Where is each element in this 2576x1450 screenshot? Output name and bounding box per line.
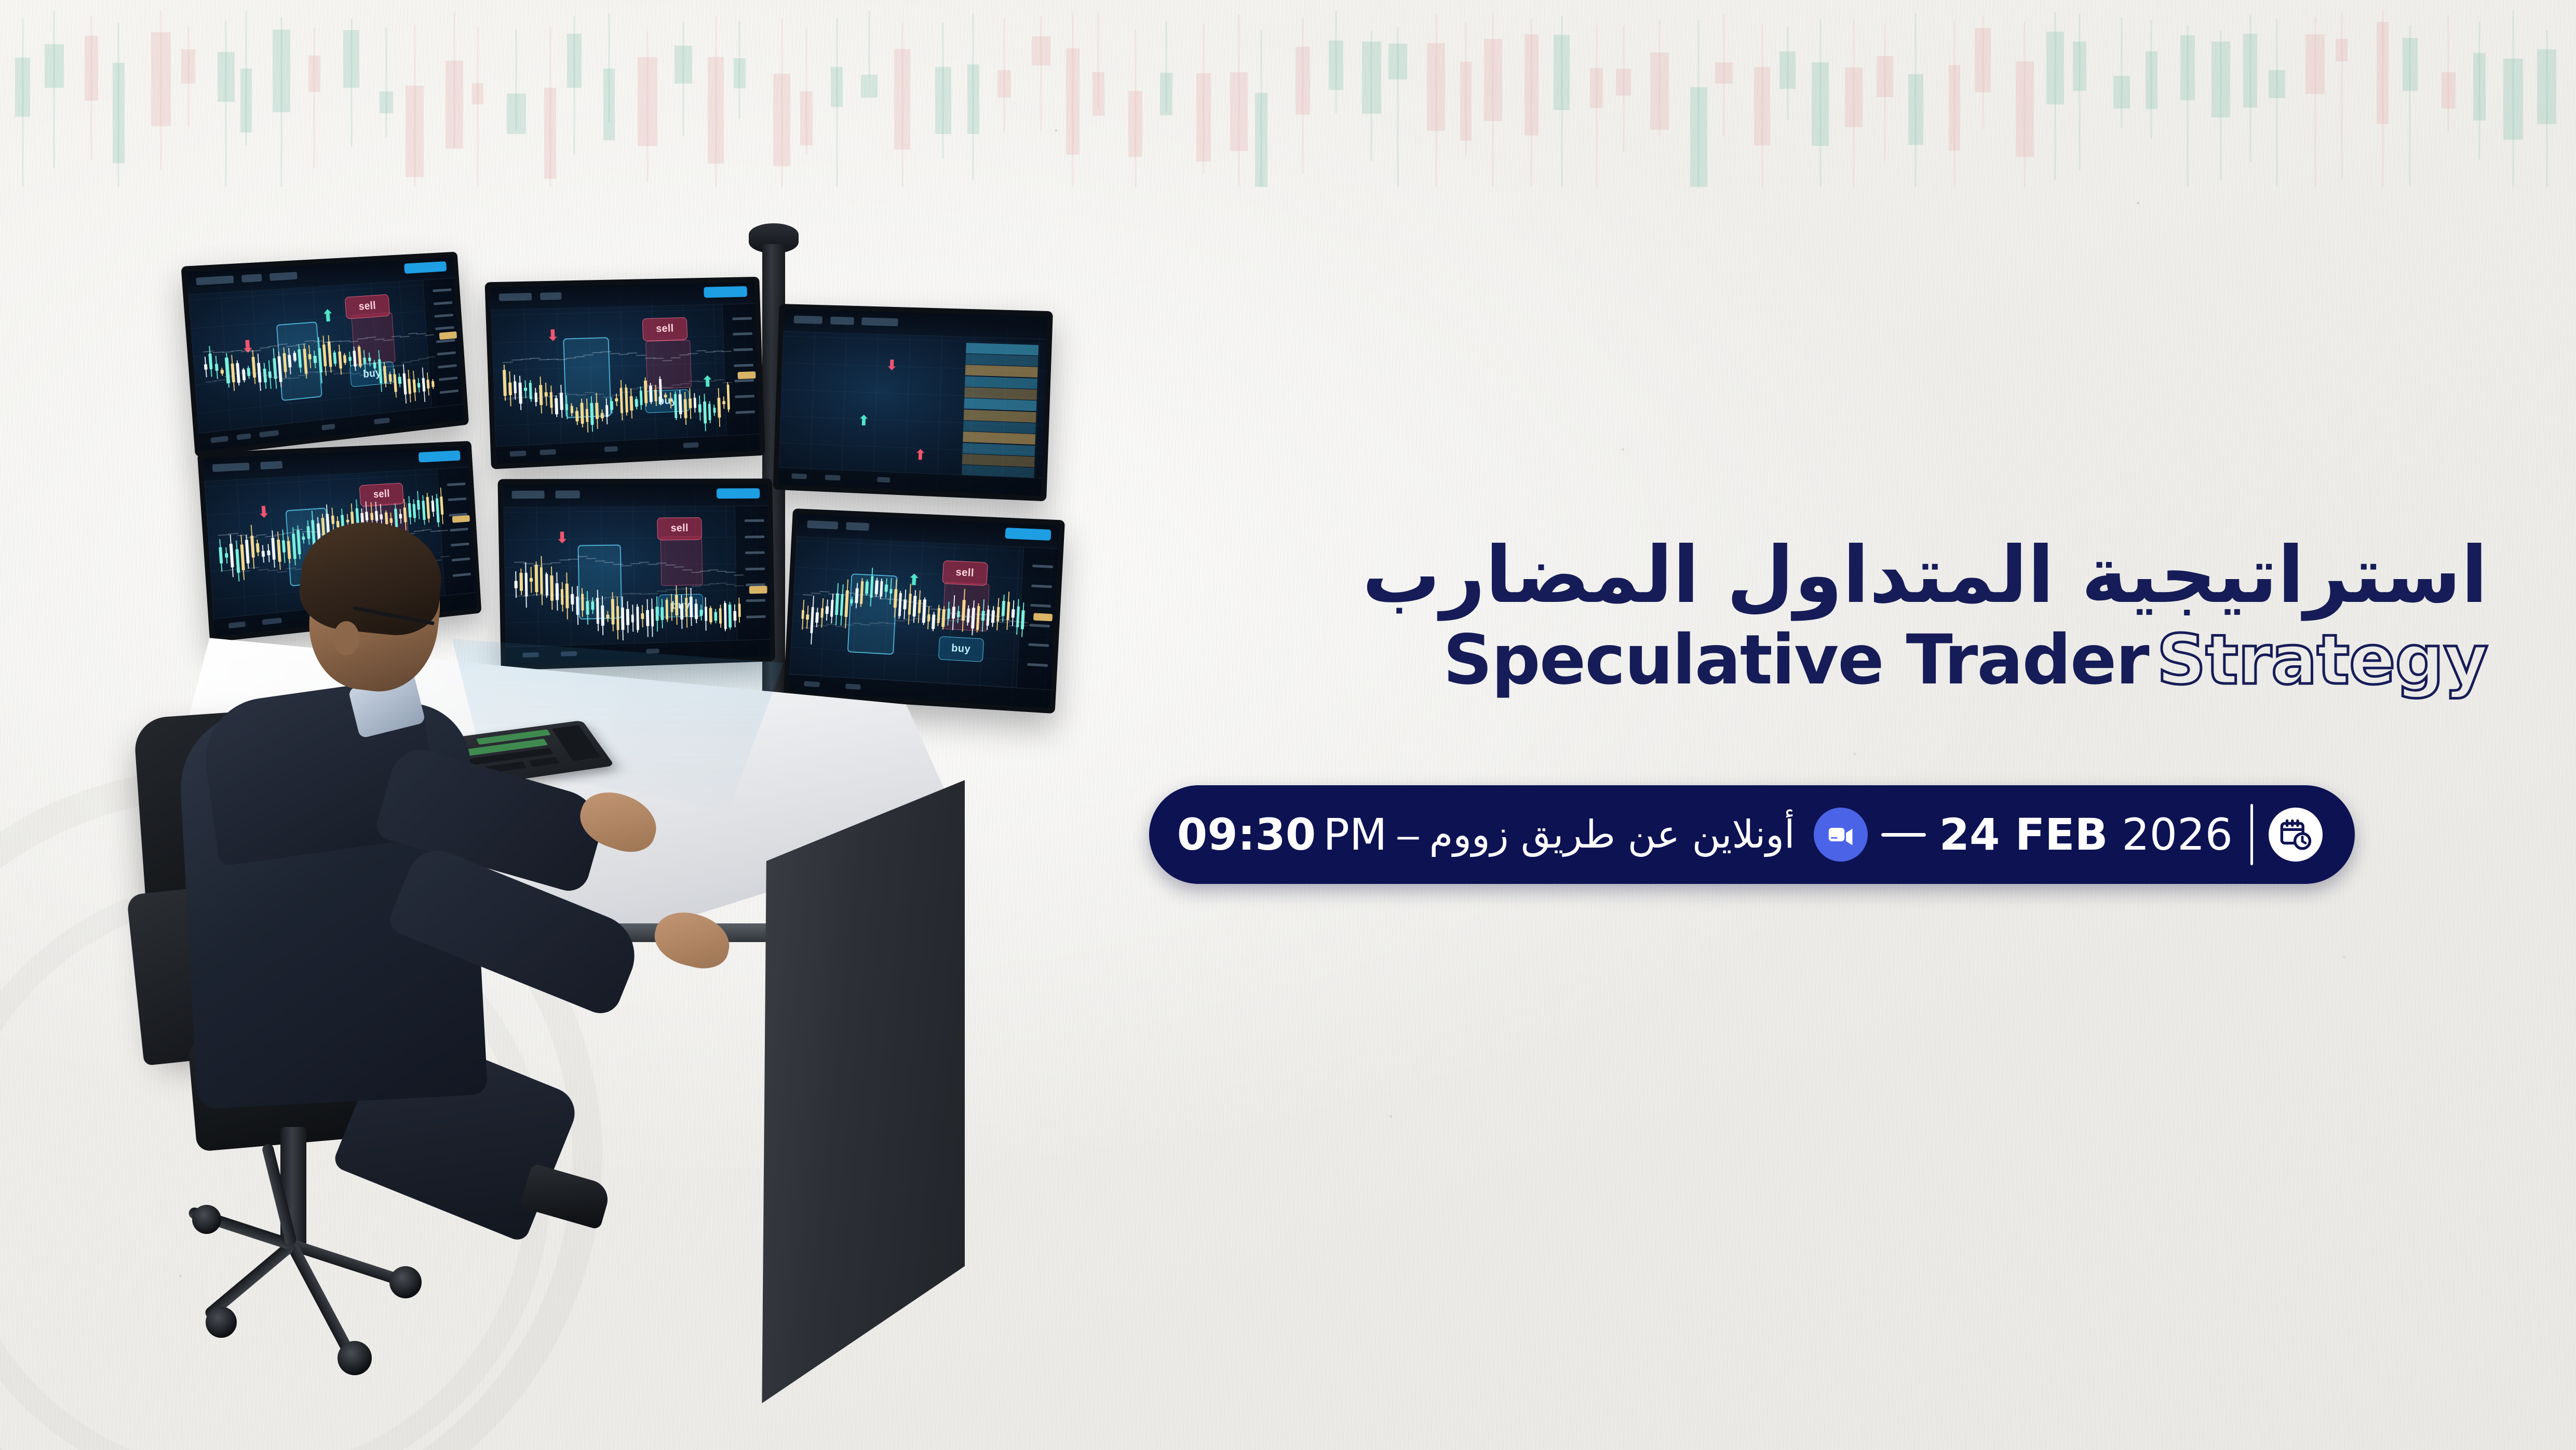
candlestick [660, 599, 664, 628]
candlestick [655, 596, 659, 632]
office-chair-wheel [389, 1266, 422, 1298]
candlestick [719, 605, 722, 628]
moving-average-line [550, 562, 561, 563]
candlestick [534, 388, 538, 407]
candlestick-watermark [0, 0, 2576, 187]
trading-screen: ⬆ ⬇ sell buy [186, 257, 464, 451]
down-arrow-icon: ⬆ [914, 448, 926, 462]
office-chair-wheel [192, 1205, 221, 1234]
calendar-clock-icon [2269, 808, 2323, 862]
candlestick [610, 397, 614, 414]
candlestick [514, 571, 518, 598]
candlestick [220, 368, 224, 377]
candlestick [670, 594, 673, 621]
event-info-badge[interactable]: 24 FEB 2026 أونلاين عن طريق زووم – 09:30… [1149, 785, 2355, 884]
moving-average-line [717, 583, 727, 584]
market-depth-panel [962, 343, 1039, 485]
up-arrow-icon: ⬆ [702, 374, 713, 389]
candlestick [571, 587, 574, 611]
event-platform-label: أونلاين عن طريق زووم [1429, 812, 1795, 857]
candlestick [733, 605, 736, 627]
monitor-top-middle: ⬇ ⬆ sell buy [484, 277, 765, 469]
candlestick [626, 601, 630, 633]
office-chair-wheel [206, 1307, 237, 1338]
sell-zone [660, 536, 703, 586]
video-camera-icon [1814, 808, 1868, 862]
candlestick [600, 409, 603, 421]
moving-average-line [604, 562, 614, 563]
candlestick [722, 397, 725, 409]
candlestick [535, 561, 538, 596]
candlestick [545, 572, 549, 598]
candlestick [586, 591, 589, 625]
moving-average-line [734, 574, 744, 575]
up-arrow-icon: ⬆ [321, 308, 334, 325]
badge-en-dash: – [1397, 813, 1419, 857]
candlestick [664, 393, 667, 400]
candlestick [665, 597, 668, 622]
down-arrow-icon: ⬇ [556, 531, 569, 546]
candlestick [695, 599, 698, 623]
candlestick [606, 611, 610, 622]
office-chair-wheel [338, 1341, 372, 1375]
down-arrow-icon: ⬇ [546, 328, 559, 343]
event-date-year: 2026 [2122, 809, 2233, 860]
candlestick [575, 407, 579, 425]
trading-screen: ⬆ sell buy [789, 514, 1060, 708]
person-ear [333, 621, 359, 655]
sell-label: sell [657, 517, 702, 541]
event-time-meridiem: PM [1323, 809, 1387, 860]
title-outline-part: Strategy [2157, 620, 2488, 700]
candlestick [699, 605, 703, 621]
candlestick [714, 609, 717, 624]
sell-zone [646, 340, 692, 389]
moving-average-line [691, 572, 701, 573]
moving-average-line [708, 569, 718, 570]
page-title-arabic: استراتيجية المتداول المضارب [1231, 530, 2488, 622]
title-solid-part: Speculative Trader [1443, 620, 2148, 700]
desk-side-panel [747, 780, 965, 1403]
event-date-day: 24 FEB [1939, 809, 2108, 860]
up-arrow-icon: ⬆ [858, 414, 869, 428]
moving-average-line [639, 561, 650, 562]
monitor-bottom-middle: ⬇ sell buy [497, 478, 775, 670]
monitor-top-right: ⬆ ⬇ ⬆ [773, 304, 1053, 501]
down-arrow-icon: ⬇ [258, 504, 271, 520]
trading-screen: ⬆ ⬇ ⬆ [778, 309, 1048, 496]
candlestick [519, 568, 523, 595]
sell-label: sell [642, 317, 687, 341]
event-time: 09:30PM [1177, 809, 1387, 860]
trading-screen: ⬇ ⬆ sell buy [490, 282, 760, 464]
candlestick [530, 567, 533, 593]
moving-average-line [700, 584, 710, 585]
candlestick [560, 582, 564, 612]
candlestick [729, 602, 732, 629]
candlestick [669, 393, 672, 409]
moving-average-line [586, 558, 597, 559]
person-shoe [520, 1163, 612, 1230]
page-title-english: Speculative TraderStrategy [1231, 625, 2488, 696]
candlestick [636, 604, 639, 633]
down-arrow-icon: ⬇ [886, 358, 897, 372]
candlestick [709, 606, 712, 625]
candlestick [738, 598, 741, 623]
candlestick [680, 595, 684, 629]
trading-screen: ⬇ sell buy [503, 484, 771, 665]
candlestick [635, 396, 638, 409]
badge-separator-dash [1881, 833, 1926, 837]
buy-label: buy [938, 636, 984, 662]
candlestick [723, 601, 726, 632]
moving-average-line [682, 569, 692, 570]
candlestick [523, 380, 527, 398]
event-time-value: 09:30 [1177, 809, 1316, 860]
event-date: 24 FEB 2026 [1939, 809, 2233, 860]
moving-average-line [649, 593, 659, 594]
sell-label: sell [344, 294, 390, 319]
candlestick [704, 597, 707, 630]
monitor-bottom-right: ⬆ sell buy [783, 508, 1065, 714]
candlestick [641, 605, 644, 627]
moving-average-line [613, 563, 623, 565]
promo-banner: ⬆ ⬇ sell buy [0, 0, 2576, 1450]
candlestick [631, 605, 634, 632]
moving-average-line [578, 598, 588, 599]
moving-average-line [514, 561, 525, 562]
candlestick [570, 403, 573, 416]
candlestick [713, 405, 716, 416]
badge-divider [2250, 804, 2253, 865]
headline-block: استراتيجية المتداول المضارب Speculative … [1231, 530, 2488, 696]
monitor-top-left: ⬆ ⬇ sell buy [181, 252, 469, 457]
trader-photo-scene: ⬆ ⬇ sell buy [130, 171, 1288, 1418]
sell-label: sell [942, 560, 988, 586]
moving-average-line [657, 590, 667, 592]
moving-average-line [683, 588, 693, 589]
candlestick [850, 597, 853, 606]
candlestick [581, 588, 584, 616]
moving-average-line [532, 565, 543, 566]
